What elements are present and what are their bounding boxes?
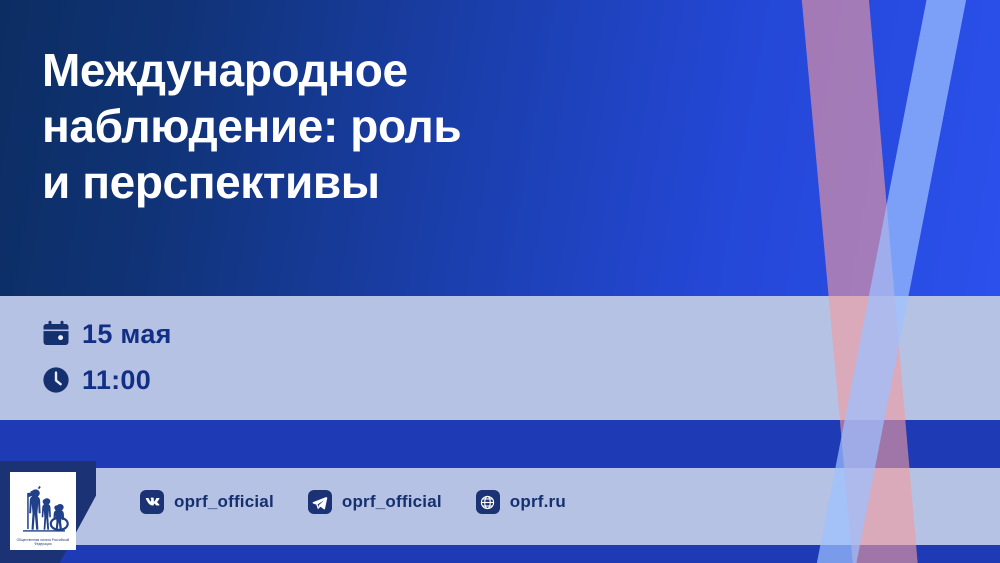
event-date-label: 15 мая: [82, 319, 172, 350]
globe-icon: [476, 490, 500, 514]
social-label-telegram: oprf_official: [342, 492, 442, 512]
calendar-icon: [42, 320, 70, 348]
social-link-vk[interactable]: oprf_official: [140, 490, 274, 514]
oprf-emblem-icon: [15, 485, 71, 539]
event-meta: 15 мая 11:00: [42, 315, 172, 407]
telegram-icon: [308, 490, 332, 514]
decorative-ribbons: [790, 0, 1000, 563]
poster-canvas: Международное наблюдение: роль и перспек…: [0, 0, 1000, 563]
social-link-website[interactable]: oprf.ru: [476, 490, 566, 514]
clock-icon: [42, 366, 70, 394]
social-label-vk: oprf_official: [174, 492, 274, 512]
logo-caption: Общественная палата Российской Федерации: [13, 539, 73, 547]
event-time-label: 11:00: [82, 365, 151, 396]
event-date-row: 15 мая: [42, 315, 172, 353]
vk-icon: [140, 490, 164, 514]
social-links: oprf_official oprf_official: [140, 490, 566, 514]
event-time-row: 11:00: [42, 361, 172, 399]
oprf-logo: Общественная палата Российской Федерации: [10, 472, 76, 550]
social-label-website: oprf.ru: [510, 492, 566, 512]
poster-title: Международное наблюдение: роль и перспек…: [42, 42, 742, 210]
social-link-telegram[interactable]: oprf_official: [308, 490, 442, 514]
